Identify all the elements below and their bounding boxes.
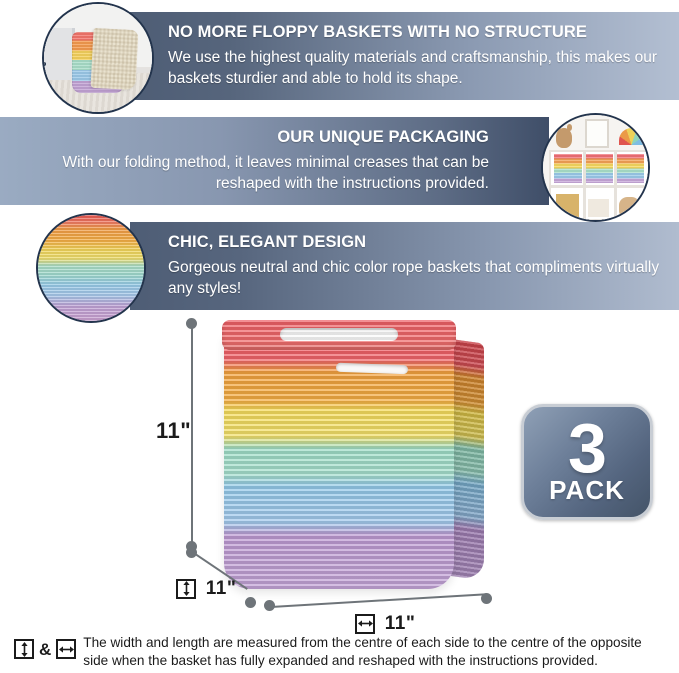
sofa xyxy=(42,28,75,80)
feature-2-body: With our folding method, it leaves minim… xyxy=(14,153,489,194)
feature-2-photo xyxy=(541,113,650,222)
product-basket-illustration xyxy=(196,318,486,593)
feature-1-body: We use the highest quality materials and… xyxy=(168,48,665,89)
height-line xyxy=(191,324,193,546)
footnote-ampersand: & xyxy=(39,641,51,658)
width-label-text: 11" xyxy=(385,613,416,634)
shelf-books xyxy=(556,194,579,217)
basket-interior-opening xyxy=(280,328,398,341)
feature-1-photo xyxy=(42,2,154,114)
sofa-leg xyxy=(42,62,46,66)
teddy-bear xyxy=(556,128,573,148)
shelf-toy xyxy=(619,197,640,217)
feature-1-title: NO MORE FLOPPY BASKETS WITH NO STRUCTURE xyxy=(168,23,587,41)
pack-count-number: 3 xyxy=(568,421,606,476)
feature-3-photo xyxy=(36,213,146,323)
width-dot-right xyxy=(481,593,492,604)
basket-rim xyxy=(222,320,456,350)
vertical-double-arrow-icon xyxy=(14,639,34,659)
feature-banner-2: OUR UNIQUE PACKAGING With our folding me… xyxy=(0,117,549,205)
feature-2-title: OUR UNIQUE PACKAGING xyxy=(277,128,489,146)
basket-front-face xyxy=(224,334,454,589)
width-line xyxy=(271,593,487,607)
depth-label-group: 11" xyxy=(176,578,236,600)
shelf-divider-vertical-1 xyxy=(583,152,586,219)
feature-banner-3: CHIC, ELEGANT DESIGN Gorgeous neutral an… xyxy=(130,222,679,310)
feature-3-body: Gorgeous neutral and chic color rope bas… xyxy=(168,258,665,299)
footnote-icon-group: & xyxy=(14,634,76,659)
pack-count-badge: 3 PACK xyxy=(521,404,653,520)
width-label-group: 11" xyxy=(355,613,415,635)
depth-label-text: 11" xyxy=(206,578,237,599)
measurement-footnote: & The width and length are measured from… xyxy=(14,634,669,670)
rope-texture-closeup xyxy=(38,215,144,321)
feature-banner-1: NO MORE FLOPPY BASKETS WITH NO STRUCTURE… xyxy=(130,12,679,100)
footnote-text: The width and length are measured from t… xyxy=(83,634,669,670)
feature-3-title: CHIC, ELEGANT DESIGN xyxy=(168,233,366,251)
pack-count-label: PACK xyxy=(549,477,625,503)
height-label: 11" xyxy=(156,418,191,444)
shelf-basket-2 xyxy=(585,154,613,184)
cube-shelf xyxy=(549,150,650,221)
shelf-basket-3 xyxy=(616,154,644,184)
shelf-divider-horizontal xyxy=(551,185,648,188)
waffle-blanket xyxy=(90,28,138,91)
horizontal-double-arrow-icon xyxy=(56,639,76,659)
shelf-basket-1 xyxy=(554,154,582,184)
vertical-double-arrow-icon xyxy=(176,579,196,599)
shelf-box xyxy=(588,199,609,216)
horizontal-double-arrow-icon xyxy=(355,614,375,634)
depth-dot-bottom xyxy=(245,597,256,608)
wall-art-frame xyxy=(585,119,609,148)
shelf-divider-vertical-2 xyxy=(614,152,617,219)
